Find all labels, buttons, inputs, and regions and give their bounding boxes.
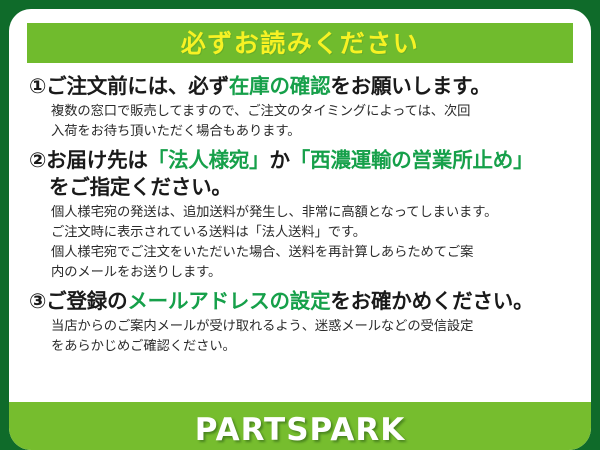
- notice-item-3-subline-2: をあらかじめご確認ください。: [51, 337, 571, 357]
- notice-item-2-marker: ②: [29, 148, 46, 172]
- partspark-logo: PARTSPARK: [195, 415, 406, 446]
- notice-item-3-heading-part-3: をお確かめください。: [330, 289, 533, 313]
- notice-item-1: ①ご注文前には、必ず在庫の確認をお願いします。 複数の窓口で販売してますので、ご…: [29, 73, 571, 141]
- notice-item-2-subline-4: 内のメールをお送りします。: [51, 263, 571, 283]
- notice-item-1-heading-part-1: ご注文前には、必ず: [46, 74, 229, 98]
- notice-item-3-heading-part-1: ご登録の: [46, 289, 127, 313]
- notice-frame: 必ずお読みください ①ご注文前には、必ず在庫の確認をお願いします。 複数の窓口で…: [0, 0, 600, 450]
- notice-item-2-subline-3: 個人様宅宛でご注文をいただいた場合、送料を再計算しあらためてご案: [51, 243, 571, 263]
- notice-item-2-heading-line2: をご指定ください。: [29, 174, 571, 201]
- notice-item-1-marker: ①: [29, 74, 46, 98]
- notice-item-1-subline-1: 複数の窓口で販売してますので、ご注文のタイミングによっては、次回: [51, 102, 571, 122]
- notice-item-2-heading: ②お届け先は「法人様宛」か「西濃運輸の営業所止め」 をご指定ください。: [29, 147, 571, 201]
- notice-item-3-heading-emphasis: メールアドレスの設定: [127, 289, 330, 313]
- notice-item-1-heading-part-3: をお願いします。: [330, 74, 490, 98]
- notice-item-1-subtext: 複数の窓口で販売してますので、ご注文のタイミングによっては、次回 入荷をお待ち頂…: [29, 102, 571, 141]
- notice-item-2-subtext: 個人様宅宛の発送は、追加送料が発生し、非常に高額となってしまいます。 ご注文時に…: [29, 203, 571, 282]
- notice-item-3-subtext: 当店からのご案内メールが受け取れるよう、迷惑メールなどの受信設定 をあらかじめご…: [29, 317, 571, 356]
- notice-item-3-heading: ③ご登録のメールアドレスの設定をお確かめください。: [29, 288, 571, 315]
- notice-item-1-subline-2: 入荷をお待ち頂いただく場合もあります。: [51, 122, 571, 142]
- notice-item-2: ②お届け先は「法人様宛」か「西濃運輸の営業所止め」 をご指定ください。 個人様宅…: [29, 147, 571, 282]
- notice-title: 必ずお読みください: [181, 31, 420, 56]
- notice-item-3-subline-1: 当店からのご案内メールが受け取れるよう、迷惑メールなどの受信設定: [51, 317, 571, 337]
- notice-item-2-heading-part-3: か: [269, 148, 289, 172]
- notice-item-2-heading-emphasis-1: 「法人様宛」: [148, 148, 270, 172]
- notice-body: ①ご注文前には、必ず在庫の確認をお願いします。 複数の窓口で販売してますので、ご…: [27, 73, 573, 357]
- footer-band: PARTSPARK: [9, 402, 591, 450]
- notice-item-1-heading: ①ご注文前には、必ず在庫の確認をお願いします。: [29, 73, 571, 100]
- notice-item-2-heading-emphasis-2: 「西濃運輸の営業所止め」: [290, 148, 534, 172]
- notice-title-band: 必ずお読みください: [27, 23, 573, 63]
- notice-panel: 必ずお読みください ①ご注文前には、必ず在庫の確認をお願いします。 複数の窓口で…: [9, 9, 591, 450]
- notice-item-1-heading-emphasis: 在庫の確認: [229, 74, 331, 98]
- notice-item-2-subline-1: 個人様宅宛の発送は、追加送料が発生し、非常に高額となってしまいます。: [51, 203, 571, 223]
- notice-item-2-subline-2: ご注文時に表示されている送料は「法人送料」です。: [51, 223, 571, 243]
- notice-item-3: ③ご登録のメールアドレスの設定をお確かめください。 当店からのご案内メールが受け…: [29, 288, 571, 356]
- notice-item-3-marker: ③: [29, 289, 46, 313]
- notice-item-2-heading-part-1: お届け先は: [46, 148, 148, 172]
